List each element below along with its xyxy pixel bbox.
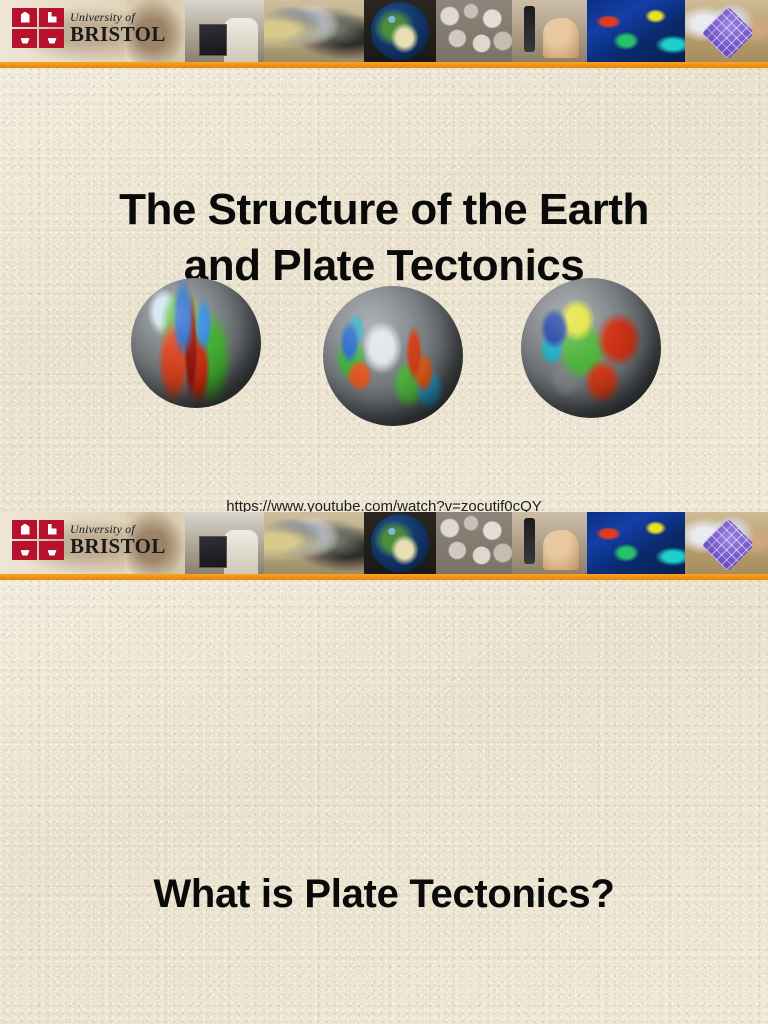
page-title-line-1: The Structure of the Earth bbox=[119, 185, 649, 234]
slide-title-body: The Structure of the Earth and Plate Tec… bbox=[0, 68, 768, 512]
globe-pacific-indian-seafloor-age bbox=[521, 278, 661, 418]
crest-quadrant-ship bbox=[12, 29, 37, 48]
slide-deck: University of BRISTOL The Structure of t… bbox=[0, 0, 768, 1024]
banner-tile-earth-globe bbox=[364, 0, 435, 62]
university-of-bristol-logo: University of BRISTOL bbox=[12, 520, 166, 560]
crest-quadrant-book bbox=[39, 8, 64, 27]
banner-tile-laboratory-computer bbox=[185, 512, 265, 574]
crest-quadrant-ship bbox=[12, 541, 37, 560]
banner-tile-microscope-researcher bbox=[512, 512, 587, 574]
university-wordmark: University of BRISTOL bbox=[70, 523, 166, 557]
banner-tile-students-on-steps bbox=[264, 512, 364, 574]
banner-tile-students-on-steps bbox=[264, 0, 364, 62]
globe-shading-overlay bbox=[521, 278, 661, 418]
slide-title: University of BRISTOL The Structure of t… bbox=[0, 0, 768, 512]
page-title: The Structure of the Earth and Plate Tec… bbox=[0, 182, 768, 293]
banner-tile-seismic-tomography-map bbox=[587, 512, 685, 574]
university-line2: BRISTOL bbox=[70, 24, 166, 45]
university-of-bristol-logo: University of BRISTOL bbox=[12, 8, 166, 48]
earth-sciences-diamond-icon bbox=[701, 6, 755, 60]
banner-tile-microscope-researcher bbox=[512, 0, 587, 62]
banner-tile-laboratory-computer bbox=[185, 0, 265, 62]
earth-sciences-logo bbox=[696, 4, 762, 60]
bristol-crest-icon bbox=[12, 8, 64, 48]
banner-tile-seismic-tomography-map bbox=[587, 0, 685, 62]
crest-quadrant-castle bbox=[12, 8, 37, 27]
slide-question-body: What is Plate Tectonics? bbox=[0, 580, 768, 1024]
globe-atlantic-seafloor-age bbox=[131, 278, 261, 408]
crest-quadrant-castle bbox=[12, 520, 37, 539]
globe-figure-group bbox=[0, 278, 768, 458]
university-line2: BRISTOL bbox=[70, 536, 166, 557]
banner-tile-pebbles-rocks bbox=[436, 0, 512, 62]
header-banner: University of BRISTOL bbox=[0, 512, 768, 574]
crest-quadrant-book bbox=[39, 520, 64, 539]
banner-tile-pebbles-rocks bbox=[436, 512, 512, 574]
header-banner: University of BRISTOL bbox=[0, 0, 768, 62]
banner-tile-earth-globe bbox=[364, 512, 435, 574]
earth-sciences-diamond-icon bbox=[701, 518, 755, 572]
crest-quadrant-sun bbox=[39, 29, 64, 48]
crest-quadrant-sun bbox=[39, 541, 64, 560]
globe-shading-overlay bbox=[131, 278, 261, 408]
page-title: What is Plate Tectonics? bbox=[0, 872, 768, 917]
university-wordmark: University of BRISTOL bbox=[70, 11, 166, 45]
globe-arctic-seafloor-age bbox=[323, 286, 463, 426]
earth-sciences-logo bbox=[696, 516, 762, 572]
slide-question: University of BRISTOL What is Plate Tect… bbox=[0, 512, 768, 1024]
video-url-link[interactable]: https://www.youtube.com/watch?v=zocutif0… bbox=[0, 498, 768, 512]
globe-shading-overlay bbox=[323, 286, 463, 426]
bristol-crest-icon bbox=[12, 520, 64, 560]
